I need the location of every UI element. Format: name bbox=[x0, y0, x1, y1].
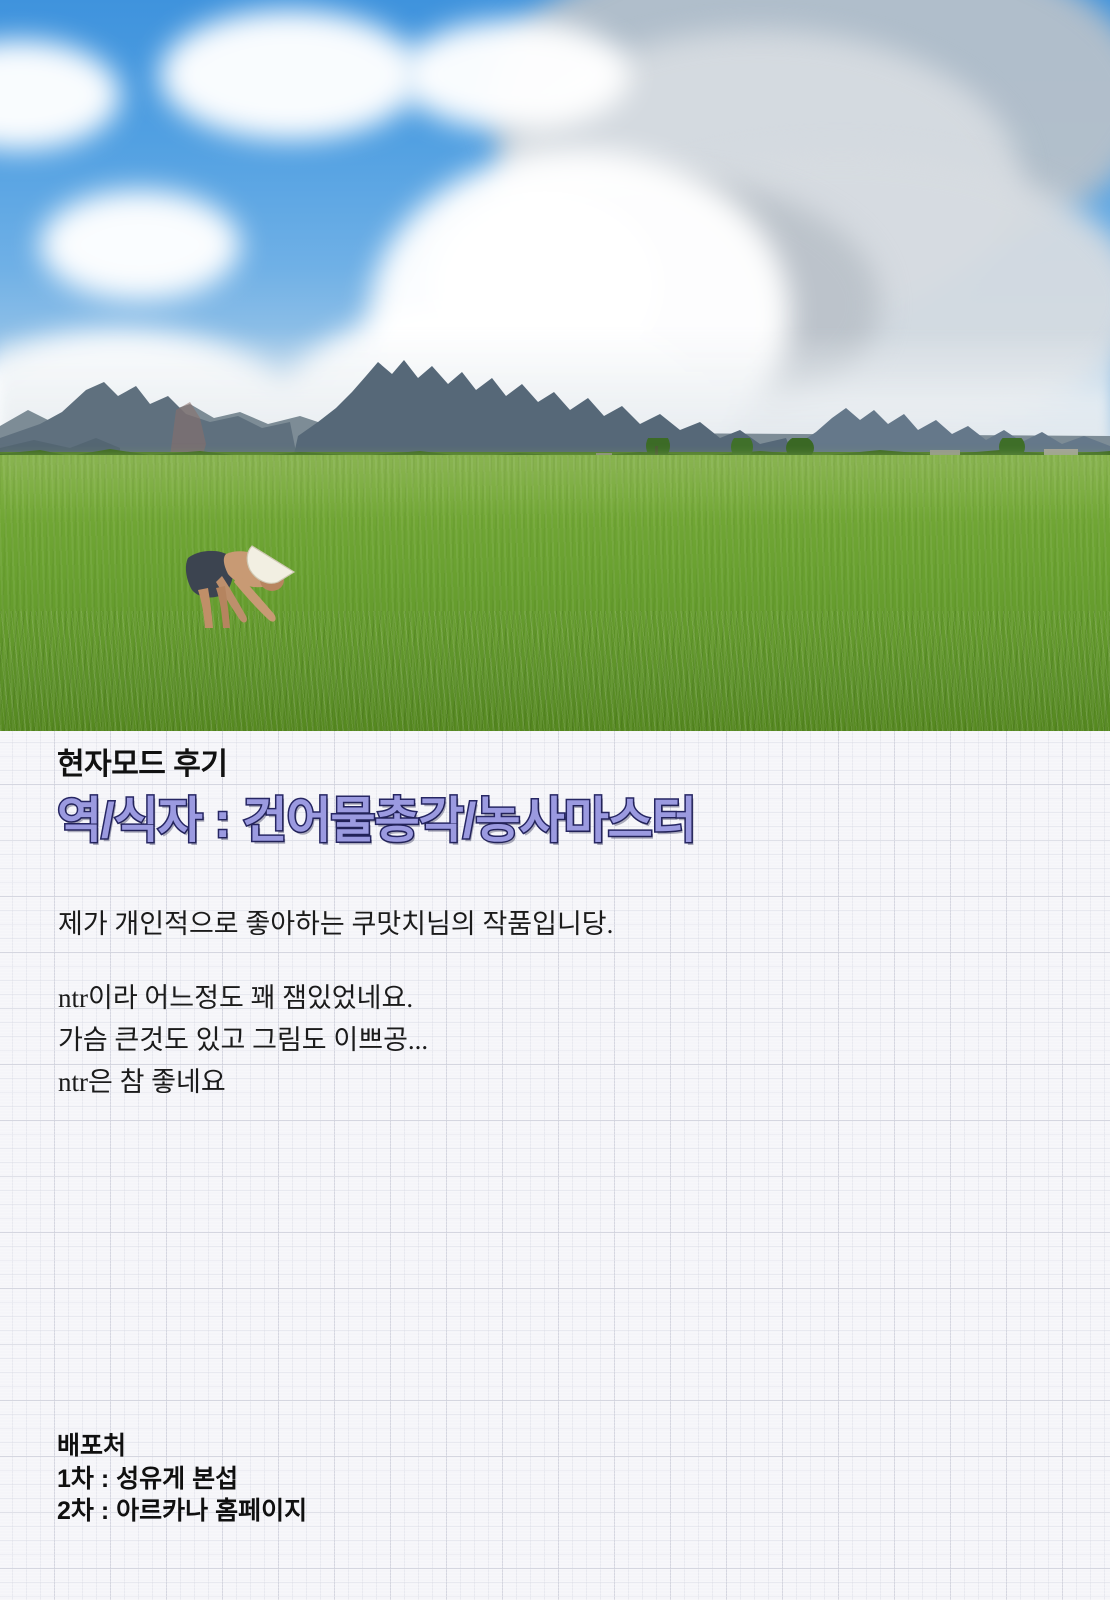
cloud bbox=[40, 190, 240, 300]
footer-entry-2: 2차 : 아르카나 홈페이지 bbox=[57, 1495, 307, 1528]
cloud bbox=[160, 10, 420, 140]
graph-paper-background: 현자모드 후기 역/식자 : 건어물총각/농사마스터 제가 개인적으로 좋아하는… bbox=[0, 731, 1110, 1600]
body-line: 가슴 큰것도 있고 그림도 이쁘공... bbox=[58, 1027, 613, 1069]
foreground-grass-texture bbox=[0, 611, 1110, 731]
farmer-figure bbox=[178, 528, 298, 633]
page-title: 역/식자 : 건어물총각/농사마스터 bbox=[57, 781, 696, 852]
paragraph-spacer bbox=[58, 953, 613, 985]
rice-paddy-field bbox=[0, 455, 1110, 731]
body-line: ntr은 참 좋네요 bbox=[58, 1069, 613, 1111]
document-content: 현자모드 후기 역/식자 : 건어물총각/농사마스터 제가 개인적으로 좋아하는… bbox=[0, 731, 1110, 1600]
cloud bbox=[400, 20, 630, 130]
footer-entry-1: 1차 : 성유게 본섭 bbox=[57, 1463, 307, 1496]
distribution-footer: 배포처 1차 : 성유게 본섭 2차 : 아르카나 홈페이지 bbox=[57, 1430, 307, 1528]
page-heading: 현자모드 후기 bbox=[57, 739, 227, 783]
body-line: 제가 개인적으로 좋아하는 쿠맛치님의 작품입니당. bbox=[58, 911, 613, 953]
header-photograph bbox=[0, 0, 1110, 731]
body-line: ntr이라 어느정도 꽤 잼있었네요. bbox=[58, 985, 613, 1027]
page-root: 현자모드 후기 역/식자 : 건어물총각/농사마스터 제가 개인적으로 좋아하는… bbox=[0, 0, 1110, 1600]
body-text-block: 제가 개인적으로 좋아하는 쿠맛치님의 작품입니당. ntr이라 어느정도 꽤 … bbox=[58, 911, 613, 1111]
footer-label: 배포처 bbox=[57, 1430, 307, 1463]
